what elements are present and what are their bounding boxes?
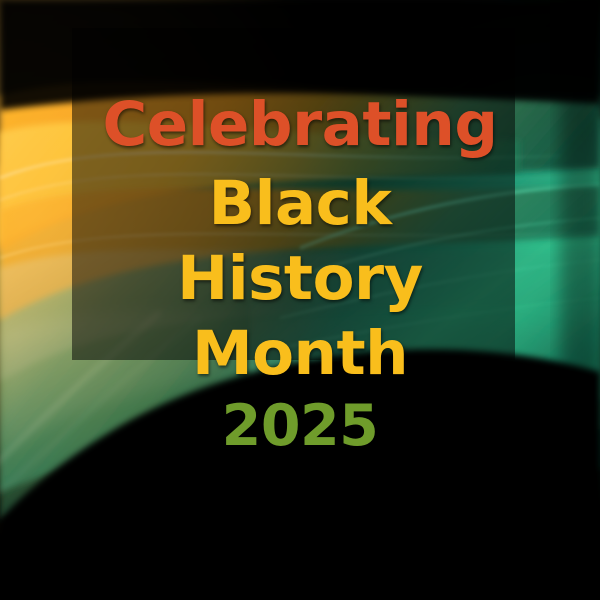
headline-line-history: History <box>177 248 423 309</box>
headline-text-stack: Celebrating Black History Month 2025 <box>0 0 600 600</box>
headline-line-year: 2025 <box>222 398 379 455</box>
headline-line-celebrating: Celebrating <box>103 94 498 155</box>
headline-line-month: Month <box>192 323 408 384</box>
black-history-month-poster: Celebrating Black History Month 2025 <box>0 0 600 600</box>
headline-line-black: Black <box>209 173 392 234</box>
